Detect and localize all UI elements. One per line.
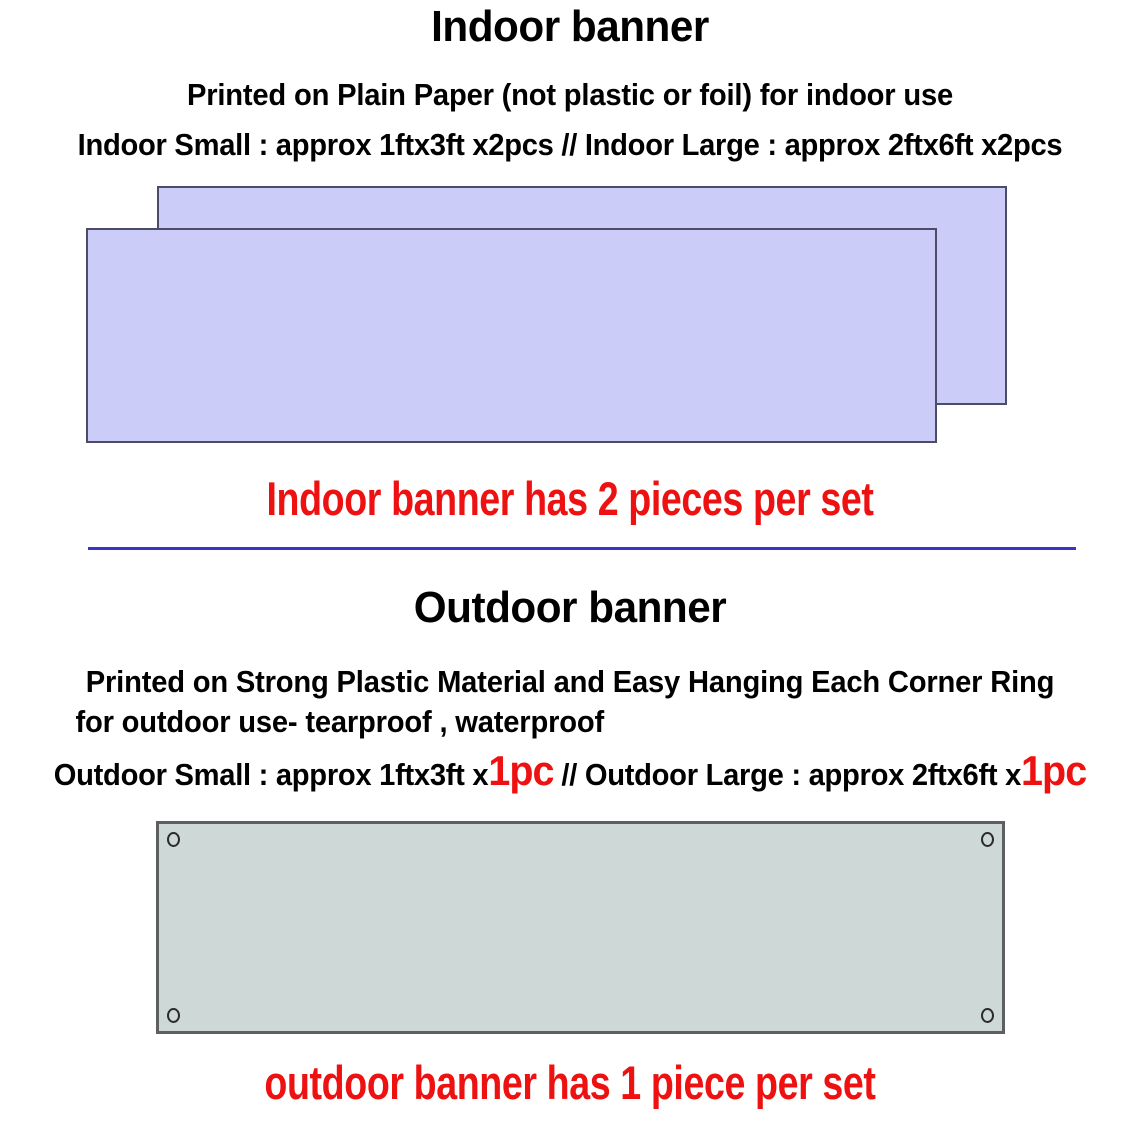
outdoor-banner-sheet xyxy=(156,821,1005,1034)
infographic-page: Indoor banner Printed on Plain Paper (no… xyxy=(0,0,1140,1129)
outdoor-material-line-1: Printed on Strong Plastic Material and E… xyxy=(34,665,1106,699)
grommet-top-right-icon xyxy=(981,832,994,847)
grommet-bottom-left-icon xyxy=(167,1008,180,1023)
indoor-size-line: Indoor Small : approx 1ftx3ft x2pcs // I… xyxy=(34,127,1106,163)
outdoor-size-prefix: Outdoor Small : approx 1ftx3ft x xyxy=(54,757,489,792)
grommet-top-left-icon xyxy=(167,832,180,847)
outdoor-material-line-2-wrap: for outdoor use- tearproof , waterproof xyxy=(34,705,1106,739)
outdoor-size-emph-small: 1pc xyxy=(488,747,553,794)
outdoor-size-middle: // Outdoor Large : approx 2ftx6ft x xyxy=(554,757,1021,792)
grommet-bottom-right-icon xyxy=(981,1008,994,1023)
indoor-material-line: Printed on Plain Paper (not plastic or f… xyxy=(34,78,1106,112)
indoor-piece-count-caption: Indoor banner has 2 pieces per set xyxy=(114,474,1026,524)
indoor-banner-sheet-front xyxy=(86,228,937,443)
outdoor-size-line: Outdoor Small : approx 1ftx3ft x1pc // O… xyxy=(34,757,1106,793)
section-divider xyxy=(88,547,1076,550)
outdoor-material-line-2: for outdoor use- tearproof , waterproof xyxy=(75,705,604,739)
outdoor-piece-count-caption: outdoor banner has 1 piece per set xyxy=(114,1058,1026,1108)
outdoor-section-title: Outdoor banner xyxy=(23,585,1117,631)
outdoor-size-emph-large: 1pc xyxy=(1021,747,1086,794)
indoor-section-title: Indoor banner xyxy=(23,4,1117,50)
